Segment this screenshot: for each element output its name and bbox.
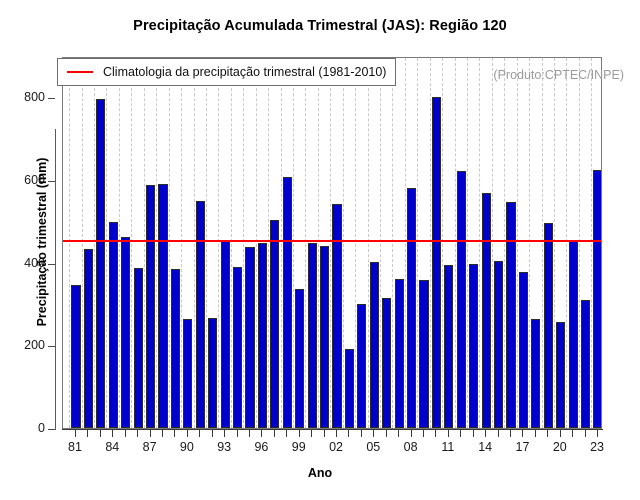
x-axis-tick <box>137 430 138 437</box>
x-axis-tick <box>398 430 399 437</box>
chart-figure: Precipitação Acumulada Trimestral (JAS):… <box>0 0 640 500</box>
x-axis-tick-label: 08 <box>396 440 426 454</box>
gridline-vertical <box>144 58 145 428</box>
x-axis-tick <box>435 430 436 437</box>
gridline-vertical <box>218 58 219 428</box>
x-axis-tick-label: 87 <box>135 440 165 454</box>
bar <box>357 304 366 428</box>
gridline-vertical <box>281 58 282 428</box>
gridline-vertical <box>94 58 95 428</box>
y-axis-title: Precipitação trimestral (mm) <box>35 92 49 392</box>
y-axis-tick-label: 0 <box>5 421 45 435</box>
plot-area <box>62 57 602 429</box>
bar <box>308 243 317 428</box>
bar <box>345 349 354 428</box>
gridline-vertical <box>405 58 406 428</box>
x-axis-tick <box>125 430 126 437</box>
x-axis-tick <box>87 430 88 437</box>
gridline-vertical <box>156 58 157 428</box>
gridline-vertical <box>392 58 393 428</box>
bar <box>121 237 130 428</box>
x-axis-tick <box>386 430 387 437</box>
gridline-vertical <box>82 58 83 428</box>
gridline-vertical <box>542 58 543 428</box>
bar <box>593 170 602 428</box>
x-axis-tick <box>336 430 337 437</box>
gridline-vertical <box>169 58 170 428</box>
gridline-vertical <box>455 58 456 428</box>
x-axis-tick <box>485 430 486 437</box>
x-axis-tick <box>311 430 312 437</box>
bar <box>245 247 254 428</box>
bar <box>96 99 105 428</box>
gridline-vertical <box>368 58 369 428</box>
bar <box>233 267 242 428</box>
x-axis-tick <box>100 430 101 437</box>
gridline-vertical <box>430 58 431 428</box>
x-axis-tick <box>510 430 511 437</box>
bar <box>196 201 205 428</box>
gridline-vertical <box>131 58 132 428</box>
x-axis-tick <box>498 430 499 437</box>
bar <box>569 240 578 428</box>
gridline-vertical <box>343 58 344 428</box>
x-axis-tick-label: 84 <box>97 440 127 454</box>
gridline-vertical <box>231 58 232 428</box>
gridline-vertical <box>442 58 443 428</box>
y-axis-line <box>55 129 56 430</box>
x-axis-tick <box>274 430 275 437</box>
x-axis-tick <box>162 430 163 437</box>
x-axis-tick-label: 81 <box>60 440 90 454</box>
bar <box>146 185 155 428</box>
x-axis-tick <box>187 430 188 437</box>
x-axis-tick <box>261 430 262 437</box>
gridline-vertical <box>355 58 356 428</box>
gridline-vertical <box>529 58 530 428</box>
bar <box>531 319 540 428</box>
gridline-vertical <box>591 58 592 428</box>
gridline-vertical <box>330 58 331 428</box>
x-axis-tick <box>460 430 461 437</box>
x-axis-tick <box>522 430 523 437</box>
x-axis-tick-label: 99 <box>284 440 314 454</box>
gridline-vertical <box>554 58 555 428</box>
bar <box>270 220 279 428</box>
bar <box>519 272 528 428</box>
x-axis-tick-label: 14 <box>470 440 500 454</box>
chart-title: Precipitação Acumulada Trimestral (JAS):… <box>0 18 640 34</box>
bar <box>469 264 478 428</box>
bar <box>109 222 118 428</box>
x-axis-tick-label: 11 <box>433 440 463 454</box>
bar <box>494 261 503 428</box>
bar <box>295 289 304 428</box>
gridline-vertical <box>293 58 294 428</box>
bar <box>258 243 267 428</box>
bar <box>556 322 565 428</box>
x-axis-tick <box>423 430 424 437</box>
gridline-vertical <box>467 58 468 428</box>
gridline-vertical <box>206 58 207 428</box>
bar <box>432 97 441 428</box>
gridline-vertical <box>517 58 518 428</box>
x-axis-tick-label: 05 <box>358 440 388 454</box>
x-axis-tick <box>572 430 573 437</box>
x-axis-tick-label: 93 <box>209 440 239 454</box>
bar <box>395 279 404 428</box>
x-axis-tick <box>547 430 548 437</box>
climatology-reference-line <box>63 240 601 242</box>
x-axis-tick-label: 90 <box>172 440 202 454</box>
bar <box>183 319 192 428</box>
x-axis-tick <box>448 430 449 437</box>
x-axis-tick-label: 17 <box>507 440 537 454</box>
bar <box>444 265 453 428</box>
bar <box>221 240 230 428</box>
bar <box>581 300 590 428</box>
bar <box>84 249 93 428</box>
x-axis-tick <box>373 430 374 437</box>
x-axis-tick <box>112 430 113 437</box>
bar <box>332 204 341 428</box>
x-axis-tick-label: 02 <box>321 440 351 454</box>
product-credit: (Produto:CPTEC/INPE) <box>493 68 624 82</box>
x-axis-tick <box>560 430 561 437</box>
gridline-vertical <box>305 58 306 428</box>
gridline-vertical <box>579 58 580 428</box>
bar <box>171 269 180 428</box>
gridline-vertical <box>194 58 195 428</box>
bar <box>482 193 491 428</box>
x-axis-tick <box>237 430 238 437</box>
gridline-vertical <box>566 58 567 428</box>
legend-label: Climatologia da precipitação trimestral … <box>103 65 386 79</box>
bar <box>208 318 217 428</box>
y-axis-tick <box>48 181 55 182</box>
x-axis-tick-label: 96 <box>246 440 276 454</box>
x-axis-title: Ano <box>0 466 640 480</box>
gridline-vertical <box>504 58 505 428</box>
gridline-vertical <box>268 58 269 428</box>
x-axis-tick <box>75 430 76 437</box>
bar <box>283 177 292 428</box>
gridline-vertical <box>479 58 480 428</box>
bar <box>158 184 167 428</box>
gridline-vertical <box>256 58 257 428</box>
y-axis-tick <box>48 346 55 347</box>
gridline-vertical <box>106 58 107 428</box>
x-axis-tick-label: 20 <box>545 440 575 454</box>
x-axis-tick <box>597 430 598 437</box>
y-axis-tick <box>48 98 55 99</box>
x-axis-tick <box>585 430 586 437</box>
gridline-vertical <box>318 58 319 428</box>
x-axis-tick <box>535 430 536 437</box>
gridline-vertical <box>69 58 70 428</box>
x-axis-tick-label: 23 <box>582 440 612 454</box>
x-axis-tick <box>411 430 412 437</box>
x-axis-tick <box>299 430 300 437</box>
gridline-vertical <box>492 58 493 428</box>
x-axis-tick <box>199 430 200 437</box>
x-axis-tick <box>224 430 225 437</box>
legend: Climatologia da precipitação trimestral … <box>57 58 396 86</box>
bar <box>382 298 391 428</box>
bar <box>320 246 329 428</box>
x-axis-tick <box>324 430 325 437</box>
gridline-vertical <box>243 58 244 428</box>
gridline-vertical <box>181 58 182 428</box>
bar <box>134 268 143 428</box>
bar <box>506 202 515 428</box>
x-axis-tick <box>473 430 474 437</box>
bar <box>407 188 416 428</box>
gridline-vertical <box>417 58 418 428</box>
gridline-vertical <box>119 58 120 428</box>
bar <box>370 262 379 428</box>
y-axis-tick <box>48 429 55 430</box>
legend-line-swatch <box>67 71 93 73</box>
x-axis-tick <box>249 430 250 437</box>
x-axis-tick <box>286 430 287 437</box>
x-axis-tick <box>361 430 362 437</box>
x-axis-tick <box>348 430 349 437</box>
bar <box>457 171 466 429</box>
bar <box>544 223 553 428</box>
bar <box>71 285 80 428</box>
gridline-vertical <box>380 58 381 428</box>
x-axis-tick <box>212 430 213 437</box>
bar <box>419 280 428 428</box>
x-axis-tick <box>150 430 151 437</box>
y-axis-tick <box>48 264 55 265</box>
x-axis-tick <box>174 430 175 437</box>
